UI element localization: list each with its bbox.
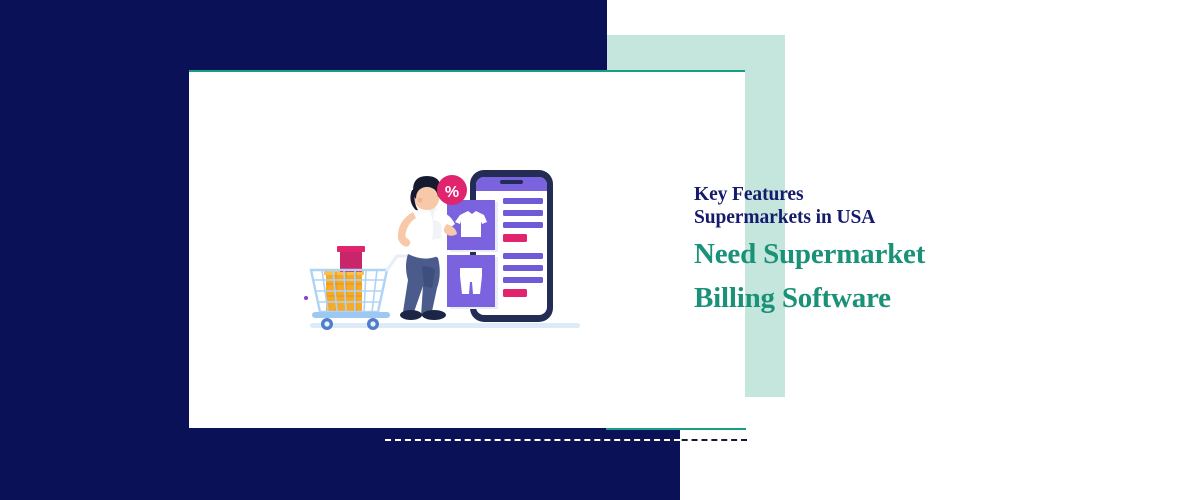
dashed-divider-line-light	[385, 439, 680, 441]
cart-base	[312, 312, 390, 318]
list-bar-purple	[503, 222, 543, 228]
list-bar-purple	[503, 210, 543, 216]
shopping-cart	[304, 246, 410, 330]
list-bar-purple	[503, 265, 543, 271]
phone-speaker	[500, 180, 523, 184]
cart-dot-accent	[304, 296, 308, 300]
discount-badge: %	[437, 175, 467, 205]
cart-wheel	[367, 318, 379, 330]
list-bar-pink	[503, 289, 527, 297]
list-bar-pink	[503, 234, 527, 242]
product-tile-tshirt	[447, 200, 498, 252]
person-shoe	[400, 310, 422, 320]
text-content-block: Key Features Supermarkets in USA Need Su…	[694, 183, 1134, 317]
person-ear	[418, 198, 423, 203]
navy-left-sidebar-block	[0, 0, 189, 500]
list-bar-purple	[503, 198, 543, 204]
teal-divider-line	[606, 428, 746, 430]
list-bar-purple	[503, 253, 543, 259]
eyebrow-line-1: Key Features	[694, 183, 1134, 206]
cart-box-pink-lid	[337, 246, 365, 252]
headline-line-1: Need Supermarket	[694, 236, 1134, 273]
slide-canvas: % Key Features Supermarkets in USA Need …	[0, 0, 1200, 500]
headline-line-2: Billing Software	[694, 280, 1134, 317]
cart-wheel	[321, 318, 333, 330]
ground-shadow	[310, 323, 580, 328]
person-legs	[403, 253, 440, 316]
list-bar-purple	[503, 277, 543, 283]
online-shopping-illustration: %	[300, 160, 590, 340]
product-tile-shorts	[447, 255, 498, 309]
eyebrow-line-2: Supermarkets in USA	[694, 206, 1134, 229]
person-shoe	[422, 310, 446, 320]
cart-box-pink	[340, 250, 362, 272]
discount-badge-label: %	[445, 184, 459, 201]
